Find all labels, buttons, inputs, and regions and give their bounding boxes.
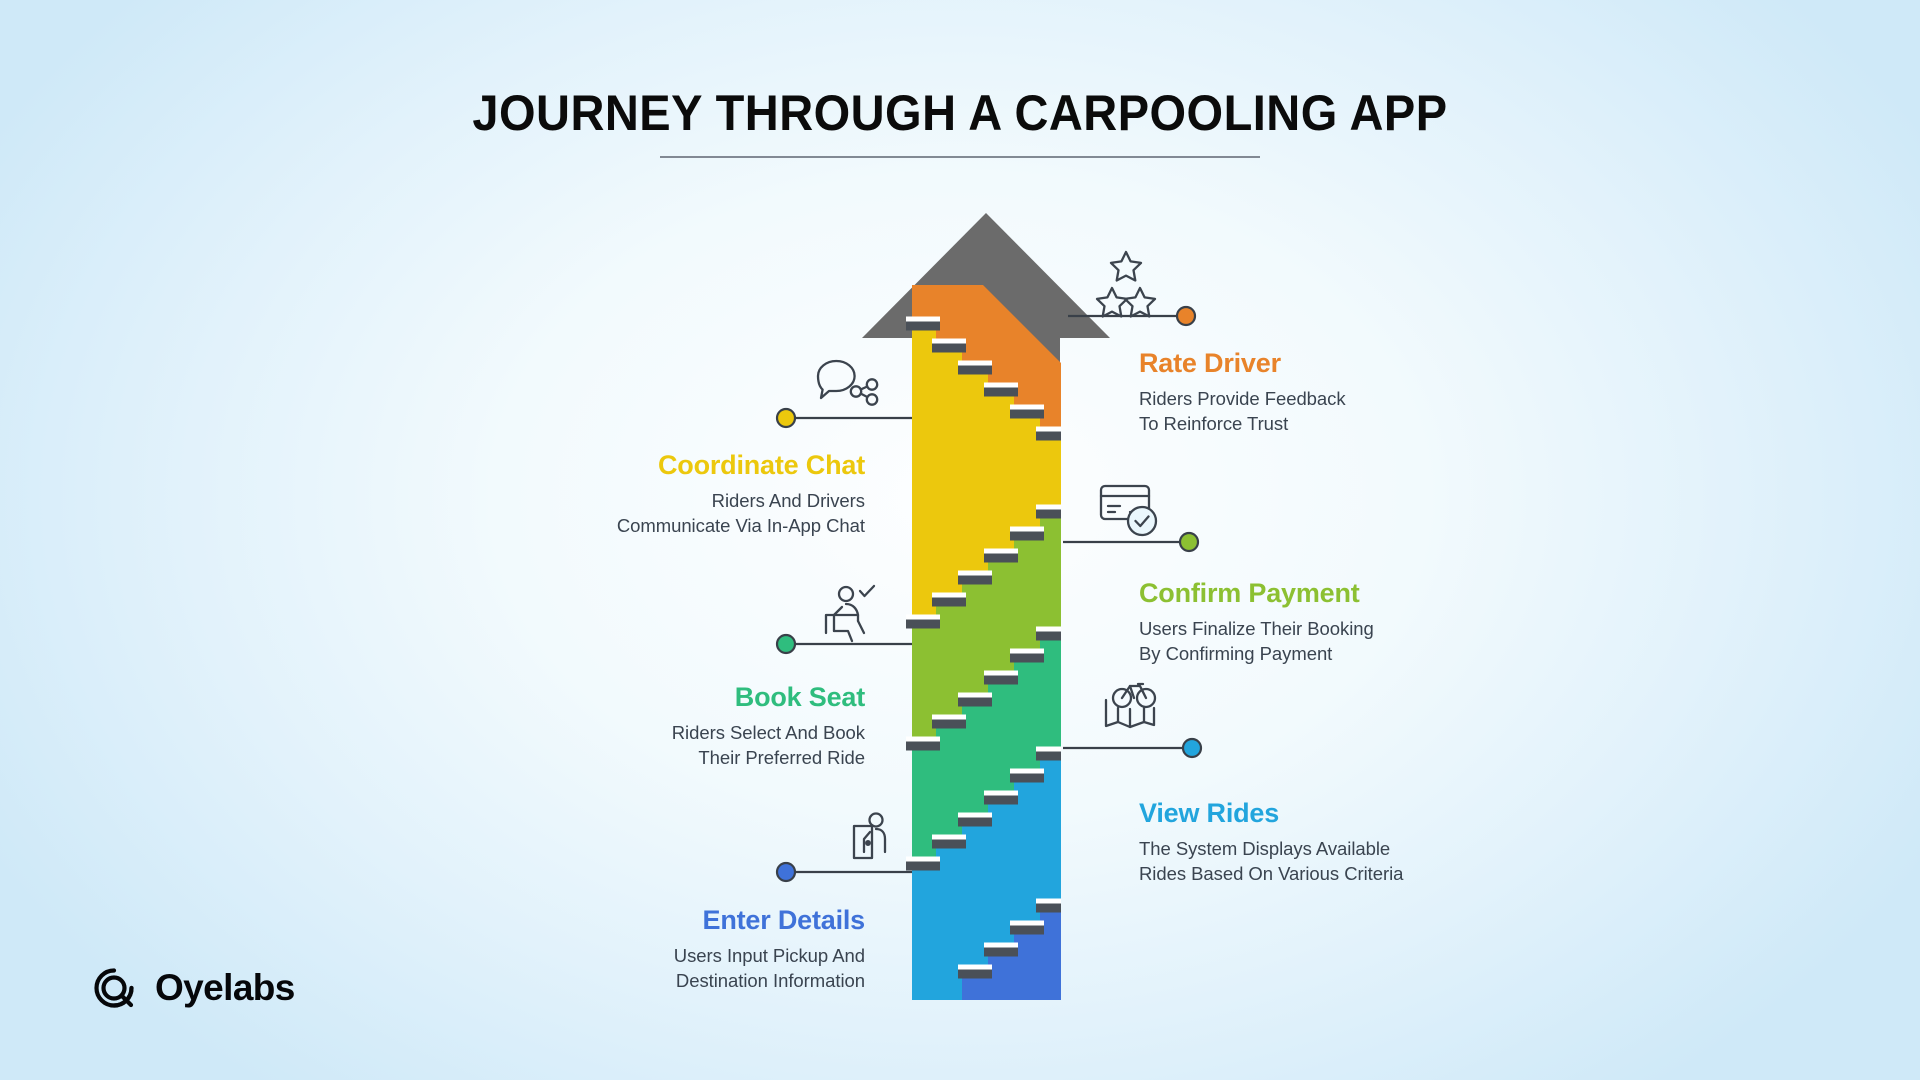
dot-coordinate-chat	[777, 409, 795, 427]
brand-logo[interactable]: Oyelabs	[88, 962, 295, 1014]
chat-bubble-share-icon	[818, 361, 877, 405]
dot-book-seat	[777, 635, 795, 653]
step-block-view-rides: View Rides The System Displays Available…	[1139, 798, 1403, 886]
dot-view-rides	[1183, 739, 1201, 757]
brand-name: Oyelabs	[155, 967, 295, 1009]
step-block-enter-details: Enter Details Users Input Pickup And Des…	[295, 905, 865, 993]
step-title-book-seat: Book Seat	[295, 682, 865, 712]
infographic-canvas: JOURNEY THROUGH A CARPOOLING APP	[0, 0, 1920, 1080]
dot-confirm-payment	[1180, 533, 1198, 551]
step-title-confirm-payment: Confirm Payment	[1139, 578, 1374, 608]
dot-enter-details	[777, 863, 795, 881]
staircase-arrow-graphic	[0, 0, 1920, 1080]
person-in-doorway-icon	[854, 814, 885, 859]
step-block-coordinate-chat: Coordinate Chat Riders And Drivers Commu…	[295, 450, 865, 538]
step-description-view-rides: The System Displays Available Rides Base…	[1139, 837, 1403, 886]
step-block-book-seat: Book Seat Riders Select And Book Their P…	[295, 682, 865, 770]
step-block-confirm-payment: Confirm Payment Users Finalize Their Boo…	[1139, 578, 1374, 666]
oyelabs-swirl-logo-icon	[88, 962, 140, 1014]
map-with-bicycle-icon	[1106, 684, 1155, 727]
color-bands	[906, 285, 1066, 1000]
step-title-coordinate-chat: Coordinate Chat	[295, 450, 865, 480]
step-description-confirm-payment: Users Finalize Their Booking By Confirmi…	[1139, 617, 1374, 666]
step-description-rate-driver: Riders Provide Feedback To Reinforce Tru…	[1139, 387, 1346, 436]
credit-card-check-icon	[1101, 486, 1156, 535]
step-description-book-seat: Riders Select And Book Their Preferred R…	[295, 721, 865, 770]
step-block-rate-driver: Rate Driver Riders Provide Feedback To R…	[1139, 348, 1346, 436]
three-stars-icon	[1097, 252, 1155, 317]
step-title-rate-driver: Rate Driver	[1139, 348, 1346, 378]
step-description-coordinate-chat: Riders And Drivers Communicate Via In-Ap…	[295, 489, 865, 538]
step-title-enter-details: Enter Details	[295, 905, 865, 935]
dot-rate-driver	[1177, 307, 1195, 325]
seated-person-check-icon	[826, 586, 874, 641]
step-description-enter-details: Users Input Pickup And Destination Infor…	[295, 944, 865, 993]
step-title-view-rides: View Rides	[1139, 798, 1403, 828]
